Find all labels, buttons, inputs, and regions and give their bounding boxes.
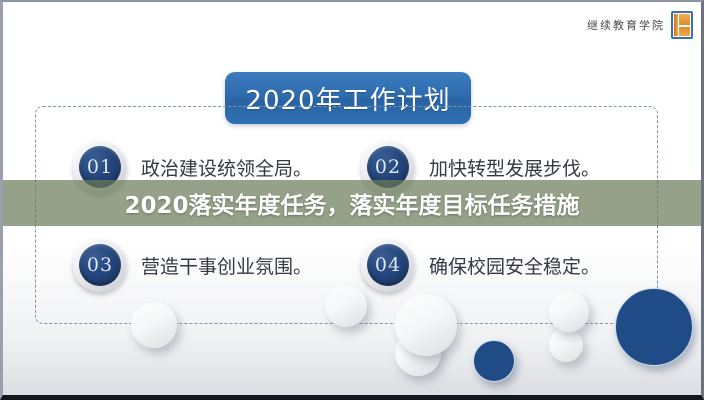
list-item-text: 加快转型发展步伐。 — [429, 154, 600, 181]
decorative-circle — [131, 302, 177, 348]
number-badge-icon: 03 — [73, 238, 127, 292]
decorative-circle — [325, 285, 367, 327]
list-item: 03 营造干事创业氛围。 — [73, 238, 312, 292]
slide-canvas: 继续教育学院 2020年工作计划 01 政治建设统领全局。 — [3, 2, 701, 395]
badge-number: 02 — [375, 156, 401, 178]
book-window-logo-icon — [671, 11, 693, 39]
caption-overlay: 2020落实年度任务，落实年度目标任务措施 — [3, 180, 701, 226]
decorative-circle — [395, 294, 457, 356]
decorative-circle — [473, 340, 515, 382]
list-item-text: 营造干事创业氛围。 — [141, 252, 312, 279]
list-item: 04 确保校园安全稳定。 — [361, 238, 600, 292]
caption-text: 2020落实年度任务，落实年度目标任务措施 — [124, 186, 579, 220]
number-badge-icon: 04 — [361, 238, 415, 292]
badge-number: 03 — [87, 254, 113, 276]
badge-number: 04 — [375, 254, 401, 276]
badge-number: 01 — [87, 156, 113, 178]
list-item-text: 确保校园安全稳定。 — [429, 252, 600, 279]
presentation-slide: 继续教育学院 2020年工作计划 01 政治建设统领全局。 — [0, 0, 704, 400]
list-item-text: 政治建设统领全局。 — [141, 154, 312, 181]
institution-brand: 继续教育学院 — [587, 11, 693, 39]
decorative-circle — [549, 292, 589, 332]
decorative-circle — [615, 288, 693, 366]
institution-name: 继续教育学院 — [587, 17, 665, 33]
decorative-circle — [549, 328, 583, 362]
